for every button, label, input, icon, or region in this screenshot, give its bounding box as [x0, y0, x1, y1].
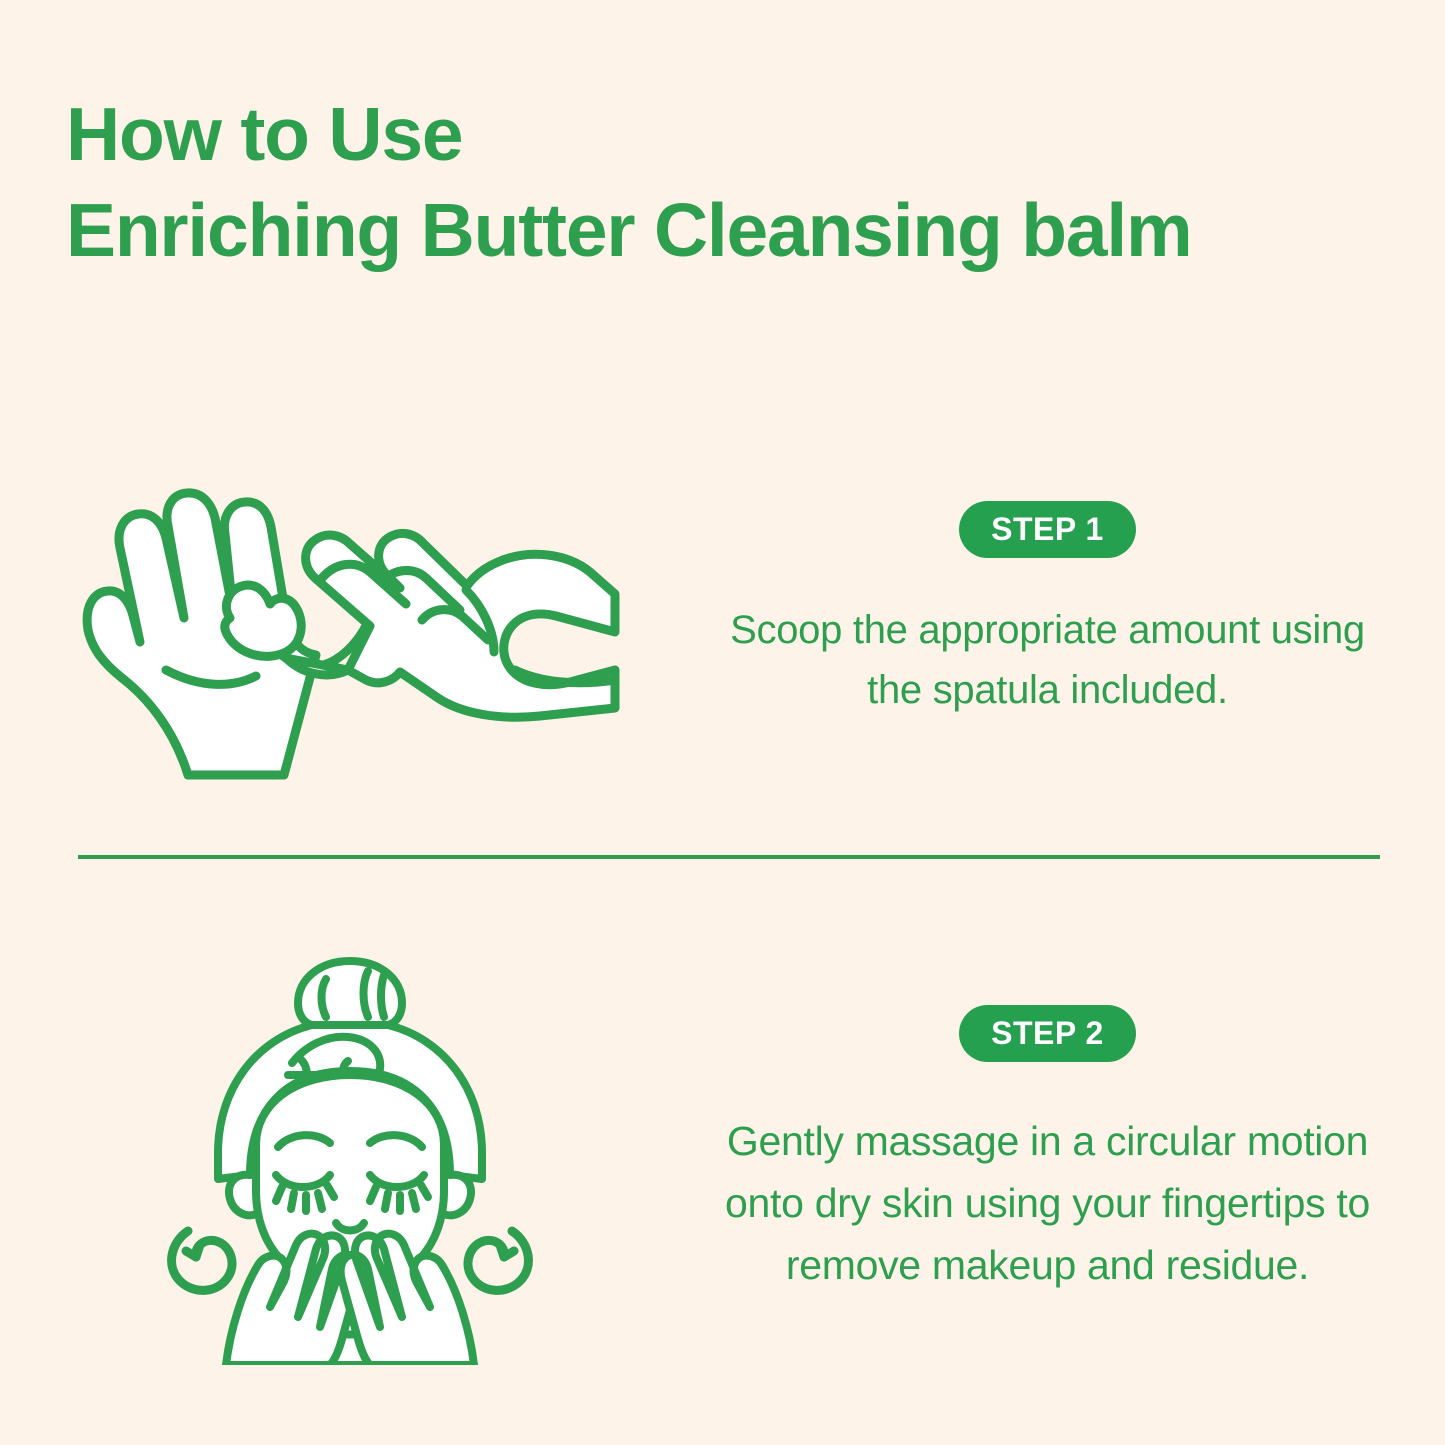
- step-2-text-column: STEP 2 Gently massage in a circular moti…: [700, 1005, 1445, 1296]
- step-1-description: Scoop the appropriate amount using the s…: [700, 600, 1395, 720]
- step-2-description: Gently massage in a circular motion onto…: [700, 1110, 1395, 1296]
- woman-massaging-face-icon: [130, 935, 570, 1365]
- step-2-section: STEP 2 Gently massage in a circular moti…: [0, 935, 1445, 1365]
- step-2-badge: STEP 2: [959, 1005, 1136, 1062]
- step-1-section: STEP 1 Scoop the appropriate amount usin…: [0, 420, 1445, 800]
- page-title-line-1: How to Use: [66, 86, 1396, 182]
- section-divider: [78, 855, 1380, 859]
- page-title: How to Use Enriching Butter Cleansing ba…: [66, 86, 1396, 278]
- step-1-badge: STEP 1: [959, 501, 1136, 558]
- page-title-line-2: Enriching Butter Cleansing balm: [66, 182, 1396, 278]
- how-to-use-infographic: How to Use Enriching Butter Cleansing ba…: [0, 0, 1445, 1445]
- hands-with-balm-scoop-icon: [70, 430, 630, 790]
- step-1-illustration-column: [0, 430, 700, 790]
- step-2-illustration-column: [0, 935, 700, 1365]
- step-1-text-column: STEP 1 Scoop the appropriate amount usin…: [700, 501, 1445, 720]
